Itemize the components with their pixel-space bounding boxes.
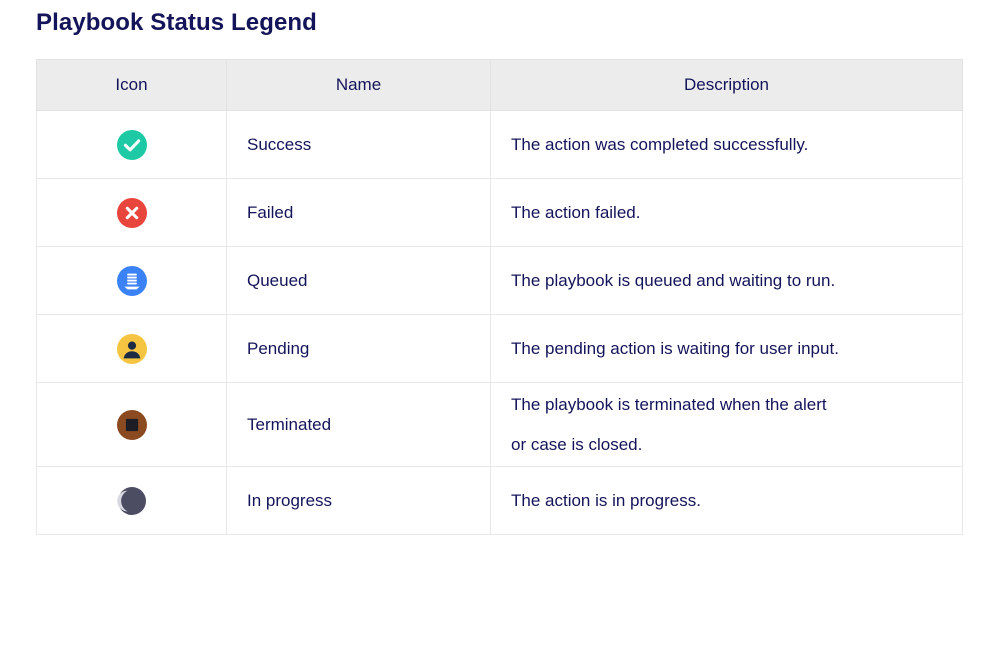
cell-icon [37, 111, 227, 179]
cell-description: The action was completed successfully. [491, 111, 963, 179]
cell-name: Pending [227, 315, 491, 383]
cell-icon [37, 315, 227, 383]
table-body: Success The action was completed success… [37, 111, 963, 535]
icon-wrap [37, 334, 226, 364]
cell-description: The action failed. [491, 179, 963, 247]
description-line: The pending action is waiting for user i… [511, 329, 942, 369]
table-header-row: Icon Name Description [37, 60, 963, 111]
table-row: Terminated The playbook is terminated wh… [37, 383, 963, 467]
description-line: The playbook is terminated when the aler… [511, 385, 942, 425]
description-line: The action failed. [511, 193, 942, 233]
cell-description: The action is in progress. [491, 467, 963, 535]
description-line: The playbook is queued and waiting to ru… [511, 261, 942, 301]
cell-icon [37, 383, 227, 467]
cell-description: The playbook is queued and waiting to ru… [491, 247, 963, 315]
table-row: Pending The pending action is waiting fo… [37, 315, 963, 383]
icon-wrap [37, 130, 226, 160]
pending-user-icon [117, 334, 147, 364]
failed-cross-icon [117, 198, 147, 228]
terminated-stop-icon [117, 410, 147, 440]
cell-name: Terminated [227, 383, 491, 467]
icon-wrap [37, 266, 226, 296]
table-header: Icon Name Description [37, 60, 963, 111]
cell-icon [37, 247, 227, 315]
icon-wrap [37, 410, 226, 440]
column-header-name: Name [227, 60, 491, 111]
playbook-status-legend-page: Playbook Status Legend Icon Name Descrip… [0, 0, 1004, 656]
queued-stack-icon [117, 266, 147, 296]
column-header-icon: Icon [37, 60, 227, 111]
cell-name: Success [227, 111, 491, 179]
cell-name: In progress [227, 467, 491, 535]
description-line: or case is closed. [511, 425, 942, 465]
table-row: Queued The playbook is queued and waitin… [37, 247, 963, 315]
status-legend-table: Icon Name Description [36, 59, 963, 535]
cell-description: The playbook is terminated when the aler… [491, 383, 963, 467]
cell-icon [37, 467, 227, 535]
description-line: The action is in progress. [511, 481, 942, 521]
icon-wrap [37, 198, 226, 228]
table-row: Failed The action failed. [37, 179, 963, 247]
icon-wrap [37, 486, 226, 516]
cell-name: Failed [227, 179, 491, 247]
in-progress-spinner-icon [117, 486, 147, 516]
table-row: In progress The action is in progress. [37, 467, 963, 535]
description-line: The action was completed successfully. [511, 125, 942, 165]
table-row: Success The action was completed success… [37, 111, 963, 179]
cell-name: Queued [227, 247, 491, 315]
cell-description: The pending action is waiting for user i… [491, 315, 963, 383]
cell-icon [37, 179, 227, 247]
page-title: Playbook Status Legend [36, 8, 317, 38]
column-header-description: Description [491, 60, 963, 111]
success-check-icon [117, 130, 147, 160]
